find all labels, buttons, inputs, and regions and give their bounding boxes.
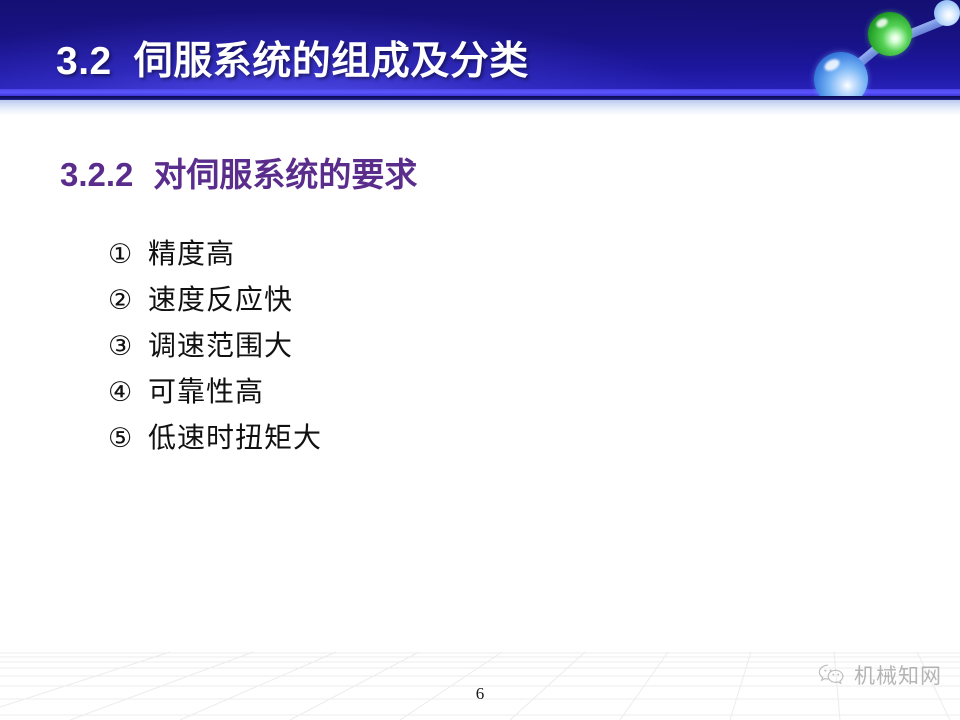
molecule-node-small-blue xyxy=(934,0,960,26)
list-item: ② 速度反应快 xyxy=(108,278,748,324)
requirements-list: ① 精度高 ② 速度反应快 ③ 调速范围大 ④ 可靠性高 ⑤ 低速时扭矩大 xyxy=(108,232,748,462)
watermark: 机械知网 xyxy=(817,660,942,690)
list-text-1: 精度高 xyxy=(148,232,235,272)
list-marker-5: ⑤ xyxy=(108,423,148,454)
molecule-node-green xyxy=(868,12,912,56)
list-marker-1: ① xyxy=(108,239,148,270)
section-number: 3.2 xyxy=(56,40,112,83)
section-title-text: 伺服系统的组成及分类 xyxy=(134,40,529,83)
list-item: ⑤ 低速时扭矩大 xyxy=(108,416,748,462)
list-item: ① 精度高 xyxy=(108,232,748,278)
watermark-text: 机械知网 xyxy=(854,660,942,690)
list-marker-2: ② xyxy=(108,285,148,316)
page-title: 3.2伺服系统的组成及分类 xyxy=(56,30,529,86)
list-item: ④ 可靠性高 xyxy=(108,370,748,416)
list-text-5: 低速时扭矩大 xyxy=(148,416,322,456)
list-text-2: 速度反应快 xyxy=(148,278,293,318)
list-text-4: 可靠性高 xyxy=(148,370,264,410)
subsection-title-text: 对伺服系统的要求 xyxy=(153,158,417,194)
molecule-graphic xyxy=(800,0,960,96)
perspective-grid xyxy=(0,646,960,720)
list-item: ③ 调速范围大 xyxy=(108,324,748,370)
list-marker-4: ④ xyxy=(108,377,148,408)
page-number: 6 xyxy=(0,684,960,704)
subsection-heading: 3.2.2对伺服系统的要求 xyxy=(60,148,417,196)
perspective-grid-svg xyxy=(0,646,960,720)
header-divider-fade xyxy=(0,100,960,116)
subsection-number: 3.2.2 xyxy=(60,156,133,193)
list-marker-3: ③ xyxy=(108,331,148,362)
header-banner: 3.2伺服系统的组成及分类 xyxy=(0,0,960,96)
slide-canvas: 3.2伺服系统的组成及分类 3.2.2对伺服系统的要求 ① 精度高 ② 速度反应… xyxy=(0,0,960,720)
list-text-3: 调速范围大 xyxy=(148,324,293,364)
wechat-icon xyxy=(817,662,847,688)
